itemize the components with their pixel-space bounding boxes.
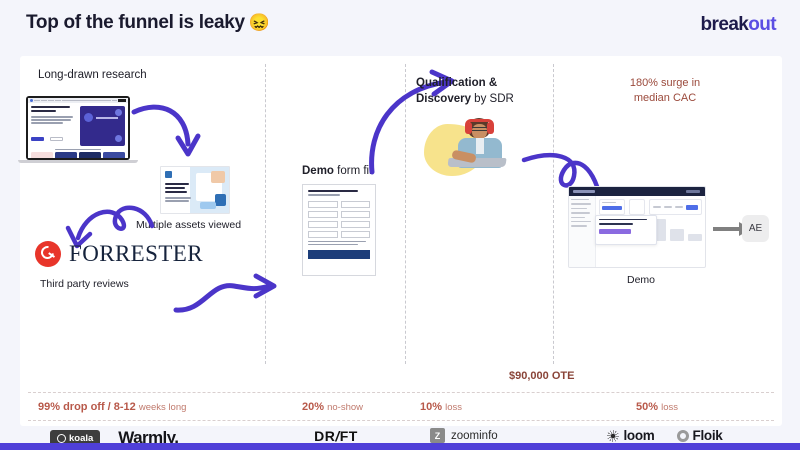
column-divider-1 — [265, 64, 266, 364]
logo-drift-part1: DR — [314, 428, 335, 444]
dashboard-body — [569, 196, 705, 267]
dashboard-tooltip-card — [595, 215, 657, 245]
slide-root: Top of the funnel is leaky😖 breakout Lon… — [0, 0, 800, 450]
logo-drift-part2: FT — [340, 428, 358, 444]
logo-loom: loom — [607, 428, 654, 443]
logo-zoominfo: Z zoominfo — [412, 428, 548, 443]
laptop-base — [18, 160, 138, 163]
third-party-review-logos: FORRESTER — [35, 241, 203, 267]
brand-logo: breakout — [701, 14, 776, 36]
dashboard-topbar — [569, 187, 705, 196]
demo-dashboard-mockup — [568, 186, 706, 268]
red-note-cac-line2: median CAC — [590, 91, 740, 106]
stat-demo-form-unit: no-show — [327, 402, 363, 413]
stat-research-value: 99% drop off / 8-12 — [38, 401, 136, 413]
zoominfo-mark-icon: Z — [430, 428, 445, 443]
slide-header: Top of the funnel is leaky😖 breakout — [0, 0, 800, 58]
red-note-cac-line1: 180% surge in — [590, 76, 740, 91]
laptop-screen — [28, 98, 128, 158]
funnel-card: Long-drawn research — [20, 56, 782, 426]
brand-logo-part2: out — [748, 14, 776, 35]
dashboard-sidebar — [569, 196, 596, 267]
column-label-qualification: Qualification & Discovery by SDR — [416, 76, 546, 107]
stat-demo-form-value: 20% — [302, 401, 324, 413]
report-illustration — [190, 167, 229, 213]
page-title: Top of the funnel is leaky😖 — [26, 12, 270, 34]
laptop-mockup — [26, 96, 130, 160]
page-title-text: Top of the funnel is leaky — [26, 12, 245, 33]
column-label-demo-form-rest: form fill — [334, 165, 374, 177]
demo-form-mockup — [302, 184, 376, 276]
column-divider-3 — [553, 64, 554, 364]
report-asset-thumbnail — [160, 166, 230, 214]
stat-qualification-value: 10% — [420, 401, 442, 413]
loom-mark-icon — [607, 430, 619, 442]
stat-qualification: 10% loss — [420, 401, 462, 413]
confounded-face-emoji: 😖 — [249, 13, 270, 32]
floik-mark-icon — [677, 430, 689, 442]
sdr-person-illustration — [438, 116, 514, 184]
stat-demo-delivered-unit: loss — [661, 402, 678, 413]
hero-video-panel — [80, 106, 125, 146]
stats-band-bottom-line — [28, 420, 774, 421]
column-label-research-text: Long-drawn research — [38, 69, 147, 81]
g2-logo-icon — [35, 241, 61, 267]
dashboard-main — [596, 196, 705, 267]
logo-drift: DR/FT — [272, 428, 400, 444]
column-divider-2 — [405, 64, 406, 364]
caption-multiple-assets: Multiple assets viewed — [136, 219, 241, 231]
logo-floik: Floik — [677, 428, 723, 443]
stat-demo-form: 20% no-show — [302, 401, 363, 413]
site-hero-section — [28, 103, 128, 149]
curved-arrow-research-to-asset — [130, 98, 210, 164]
red-note-cac: 180% surge in median CAC — [590, 76, 740, 106]
handoff-ae-badge: AE — [742, 215, 769, 242]
logo-floik-label: Floik — [693, 428, 723, 443]
stat-research: 99% drop off / 8-12 weeks long — [38, 401, 186, 413]
brand-logo-part1: break — [701, 14, 749, 35]
forrester-wordmark: FORRESTER — [69, 241, 203, 267]
stat-demo-delivered-value: 50% — [636, 401, 658, 413]
slide-accent-bar — [0, 443, 800, 450]
handoff-ae-label: AE — [749, 223, 762, 234]
logo-koala-label: koala — [69, 433, 93, 444]
stat-qualification-unit: loss — [445, 402, 462, 413]
logo-zoominfo-label: zoominfo — [451, 430, 498, 442]
stat-research-unit: weeks long — [139, 402, 187, 413]
koala-mark-icon — [57, 434, 66, 443]
hero-secondary-button — [50, 137, 63, 141]
hero-copy — [31, 106, 77, 146]
caption-third-party-reviews: Third party reviews — [40, 278, 129, 290]
stat-demo-delivered: 50% loss — [636, 401, 678, 413]
stats-band-top-line — [28, 392, 774, 393]
column-label-qualification-rest: by SDR — [471, 93, 514, 105]
column-label-demo-form-bold: Demo — [302, 165, 334, 177]
site-tile-row — [28, 152, 128, 158]
hero-primary-button — [31, 137, 44, 141]
column-label-research: Long-drawn research — [38, 68, 147, 84]
logo-loom-label: loom — [623, 428, 654, 443]
ote-label: $90,000 OTE — [509, 370, 574, 382]
column-label-demo-form: Demo form fill — [302, 164, 374, 180]
caption-demo: Demo — [627, 274, 655, 286]
demo-form-submit-button — [308, 250, 370, 259]
